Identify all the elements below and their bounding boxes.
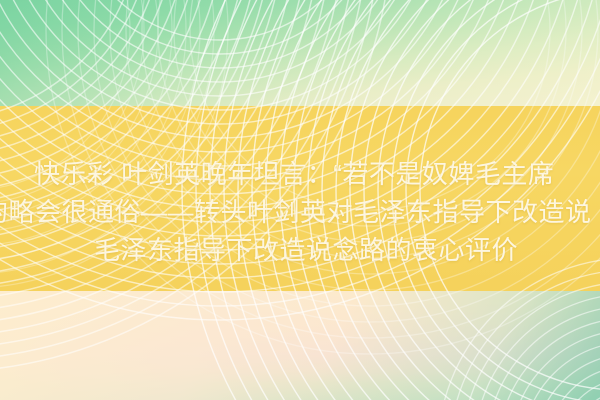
headline-line-3: 毛泽东指导下改造说念路的衷心评价	[94, 234, 518, 266]
headline-line-2: 的略会很通俗——转头叶剑英对毛泽东指导下改造说	[0, 196, 592, 228]
headline-line-1: 快乐彩 叶剑英晚年坦言：“若不是奴婢毛主席	[34, 158, 554, 190]
banner-headline: 快乐彩 叶剑英晚年坦言：“若不是奴婢毛主席 的略会很通俗——转头叶剑英对毛泽东指…	[0, 0, 600, 400]
promo-banner: 快乐彩 叶剑英晚年坦言：“若不是奴婢毛主席 的略会很通俗——转头叶剑英对毛泽东指…	[0, 0, 600, 400]
